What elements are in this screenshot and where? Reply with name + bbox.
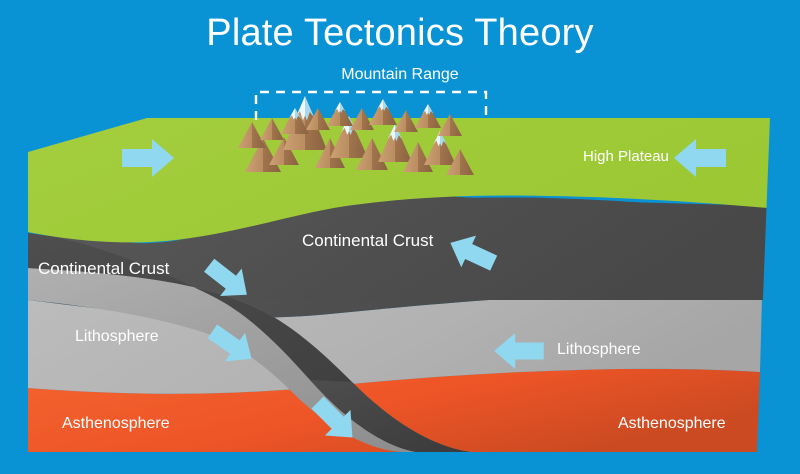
plate-tectonics-illustration [0,0,800,474]
earth-block [28,118,770,452]
diagram-canvas: Plate Tectonics Theory Mountain Range Hi… [0,0,800,474]
